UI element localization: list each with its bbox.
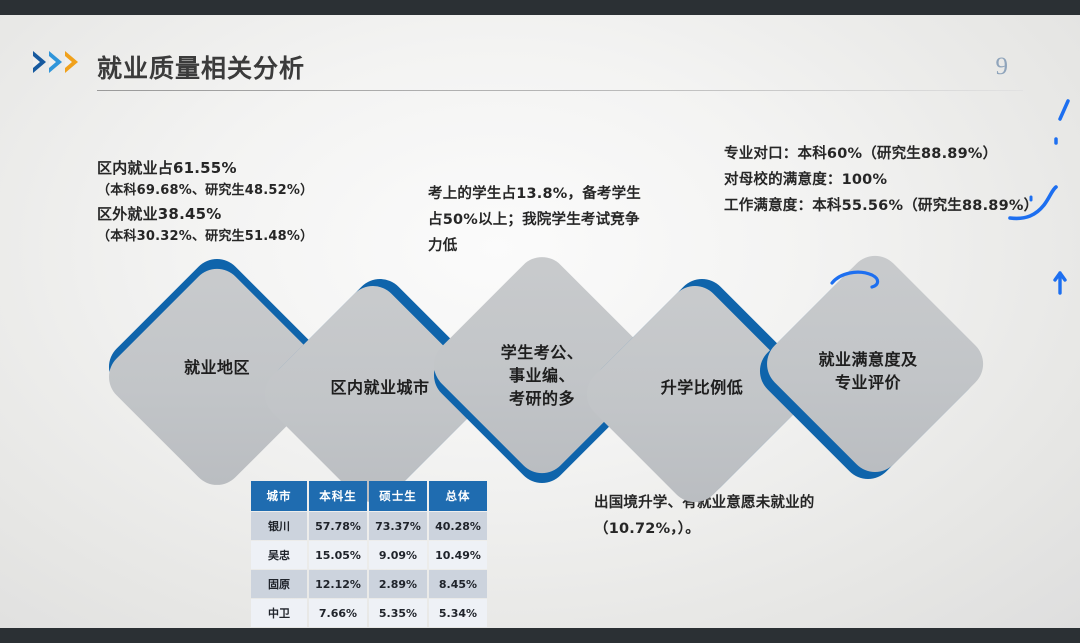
table-cell-master: 73.37% [369,512,427,540]
table-cell-master: 9.09% [369,541,427,569]
table-header-row: 城市 本科生 硕士生 总体 [251,481,487,511]
callout-satisfaction-line2: 对母校的满意度：100% [724,167,1044,193]
table-cell-city: 中卫 [251,599,307,627]
diamond-employment-region[interactable]: 就业地区 [133,283,301,451]
table-cell-master: 2.89% [369,570,427,598]
table-col-total: 总体 [429,481,487,511]
table-col-master: 硕士生 [369,481,427,511]
callout-region-line2: （本科69.68%、研究生48.52%） [97,180,387,202]
table-cell-city: 吴忠 [251,541,307,569]
table-row: 中卫 7.66% 5.35% 5.34% [251,599,487,627]
table-cell-bachelor: 12.12% [309,570,367,598]
callout-satisfaction-line1: 专业对口：本科60%（研究生88.89%） [724,141,1044,167]
title-divider [97,90,1023,91]
window-top-bar [0,0,1080,15]
callout-region-line4: （本科30.32%、研究生51.48%） [97,226,387,248]
table-cell-city: 固原 [251,570,307,598]
chevron-group-icon [33,51,78,73]
callout-satisfaction-line3: 工作满意度：本科55.56%（研究生88.89%） [724,193,1044,219]
page-title: 就业质量相关分析 [97,49,305,85]
chevron-right-icon [33,51,46,73]
slide-header: 就业质量相关分析 9 [0,15,1080,100]
diamond-body [756,245,994,483]
diamond-satisfaction-evaluation[interactable]: 就业满意度及专业评价 [784,287,952,455]
callout-region-line1: 区内就业占61.55% [97,156,387,180]
callout-satisfaction: 专业对口：本科60%（研究生88.89%） 对母校的满意度：100% 工作满意度… [724,141,1044,219]
table-row: 吴忠 15.05% 9.09% 10.49% [251,541,487,569]
diamond-low-postgrad-rate[interactable]: 升学比例低 [618,303,786,471]
table-col-city: 城市 [251,481,307,511]
page-number: 9 [996,53,1009,81]
table-row: 银川 57.78% 73.37% 40.28% [251,512,487,540]
table-cell-bachelor: 15.05% [309,541,367,569]
table-cell-city: 银川 [251,512,307,540]
table-cell-bachelor: 7.66% [309,599,367,627]
table-cell-master: 5.35% [369,599,427,627]
table-cell-total: 40.28% [429,512,487,540]
ink-arrow-up-icon [1055,273,1065,293]
chevron-right-icon [49,51,62,73]
callout-exam-text: 考上的学生占13.8%，备考学生占50%以上；我院学生考试竞争力低 [428,181,643,259]
city-employment-table: 城市 本科生 硕士生 总体 银川 57.78% 73.37% 40.28% 吴忠… [249,480,489,628]
table-cell-total: 5.34% [429,599,487,627]
callout-exam-competition: 考上的学生占13.8%，备考学生占50%以上；我院学生考试竞争力低 [428,181,643,259]
callout-employment-region: 区内就业占61.55% （本科69.68%、研究生48.52%） 区外就业38.… [97,156,387,248]
table-cell-total: 10.49% [429,541,487,569]
table-cell-bachelor: 57.78% [309,512,367,540]
window-bottom-bar [0,628,1080,643]
callout-region-line3: 区外就业38.45% [97,202,387,226]
table-col-bachelor: 本科生 [309,481,367,511]
table-cell-total: 8.45% [429,570,487,598]
table-row: 固原 12.12% 2.89% 8.45% [251,570,487,598]
chevron-right-icon [65,51,78,73]
slide-canvas: 就业质量相关分析 9 区内就业占61.55% （本科69.68%、研究生48.5… [0,15,1080,628]
ink-tick-icon [1060,101,1068,119]
